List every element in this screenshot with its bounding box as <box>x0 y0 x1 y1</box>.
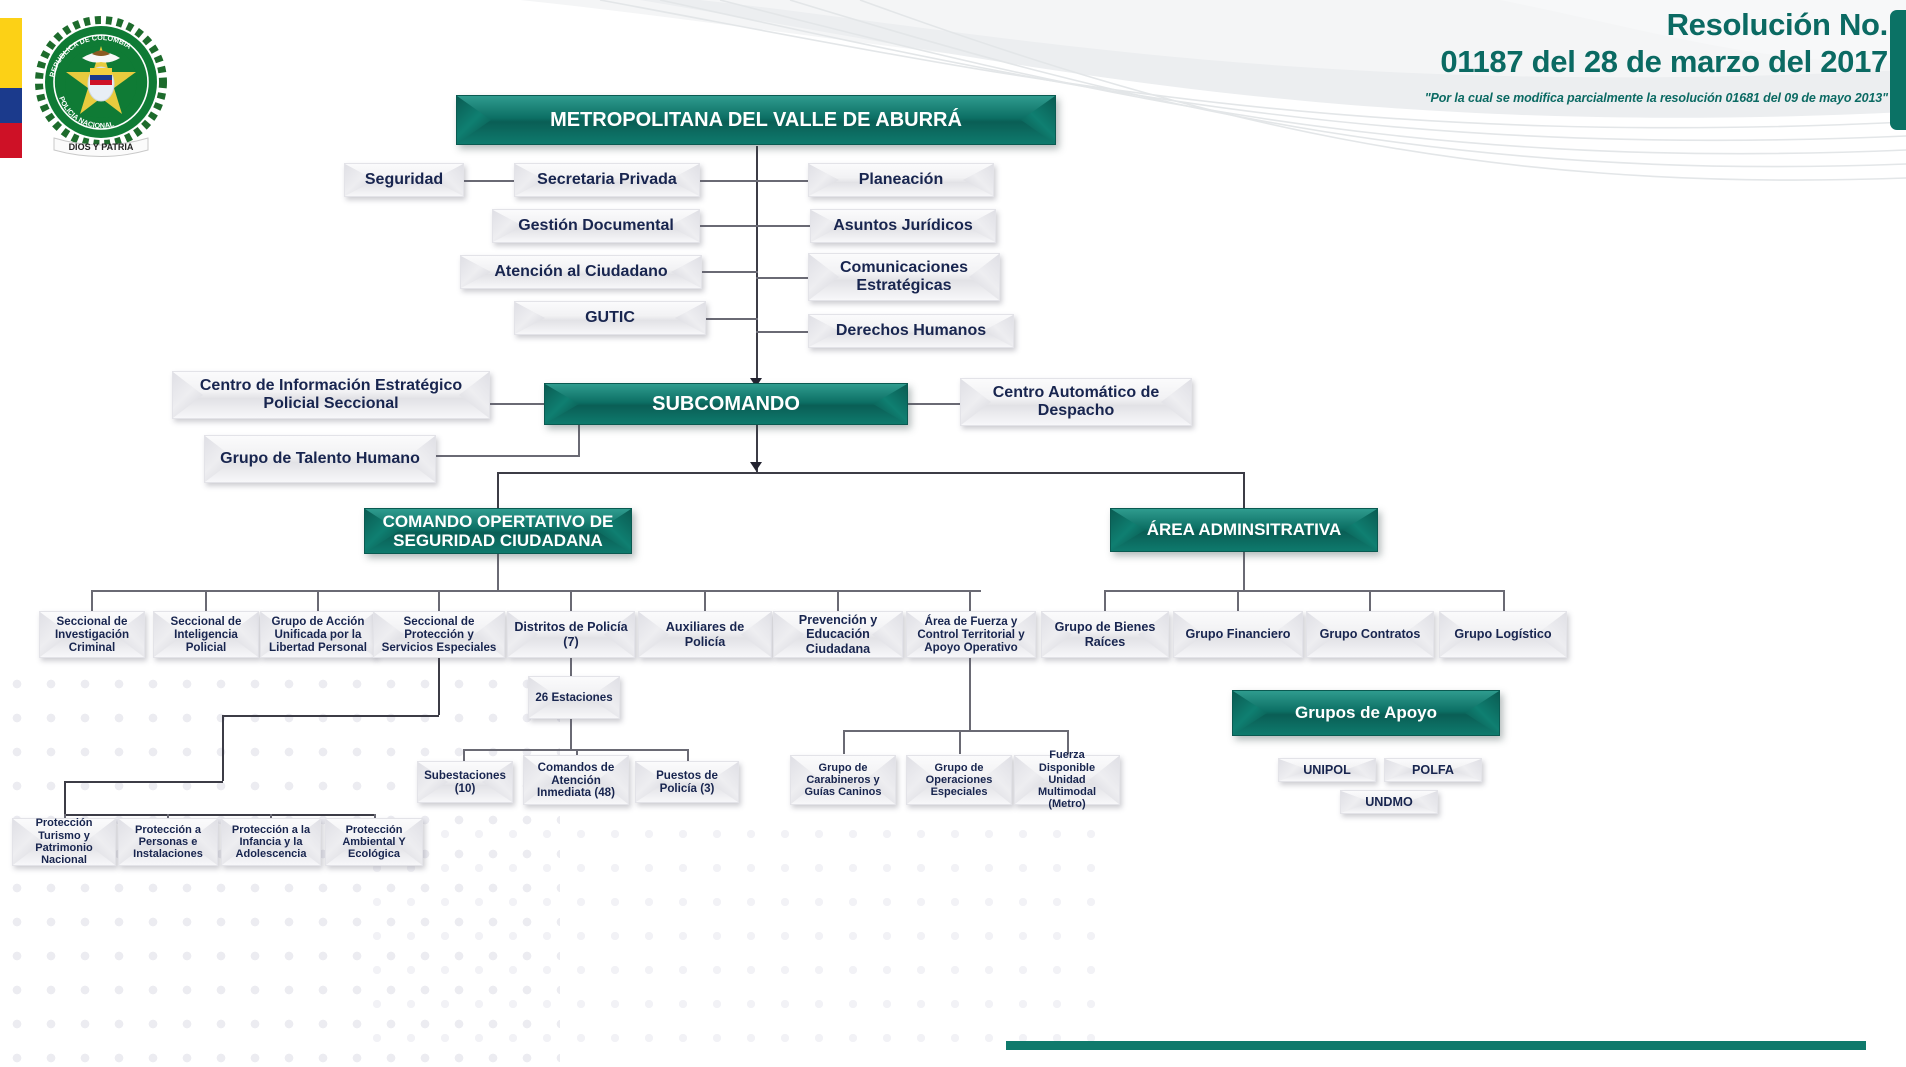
node-seccional-proteccion-servicios-especiales[interactable]: Seccional de Protección y Servicios Espe… <box>373 611 505 658</box>
node-proteccion-personas-instalaciones[interactable]: Protección a Personas e Instalaciones <box>118 818 218 866</box>
connector-fz-1 <box>843 730 845 754</box>
resolution-title-line1: Resolución No. <box>1168 6 1888 43</box>
connector-estaciones-down <box>570 718 572 749</box>
node-metropolitana-valle-aburra[interactable]: METROPOLITANA DEL VALLE DE ABURRÁ <box>456 95 1056 145</box>
policia-nacional-colombia-emblem: REPUBLICA DE COLOMBIA POLICIA NACIONAL D… <box>30 10 172 170</box>
connector-ad-2 <box>1237 590 1239 613</box>
node-seguridad[interactable]: Seguridad <box>344 163 464 197</box>
node-undmo[interactable]: UNDMO <box>1340 790 1438 814</box>
node-proteccion-turismo-patrimonio[interactable]: Protección Turismo y Patrimonio Nacional <box>12 818 116 866</box>
node-grupo-logistico[interactable]: Grupo Logístico <box>1439 611 1567 658</box>
node-grupo-contratos[interactable]: Grupo Contratos <box>1306 611 1434 658</box>
node-auxiliares-de-policia[interactable]: Auxiliares de Policía <box>638 611 772 658</box>
node-puestos-de-policia[interactable]: Puestos de Policía (3) <box>635 761 739 803</box>
connector-op-2 <box>205 590 207 613</box>
slide-header: Resolución No. 01187 del 28 de marzo del… <box>1168 6 1888 105</box>
node-proteccion-infancia-adolescencia[interactable]: Protección a la Infancia y la Adolescenc… <box>221 818 321 866</box>
connector-ad-3 <box>1369 590 1371 613</box>
resolution-subtitle: "Por la cual se modifica parcialmente la… <box>1168 91 1888 105</box>
node-seccional-inteligencia-policial[interactable]: Seccional de Inteligencia Policial <box>153 611 259 658</box>
background-dot-pattern <box>0 667 560 1067</box>
node-atencion-al-ciudadano[interactable]: Atención al Ciudadano <box>460 255 702 289</box>
connector-talento-v <box>578 423 580 456</box>
connector-ddhh <box>756 331 808 333</box>
connector-ciep <box>490 403 544 405</box>
connector-ad-4 <box>1503 590 1505 613</box>
connector-proteccion-h1 <box>222 715 439 717</box>
connector-planeacion <box>756 180 808 182</box>
node-area-administrativa[interactable]: ÁREA ADMINSITRATIVA <box>1110 508 1378 552</box>
background-dot-pattern-secondary <box>360 817 1120 1067</box>
connector-juridicos <box>756 225 812 227</box>
node-centro-informacion-estrategico[interactable]: Centro de Información Estratégico Polici… <box>172 371 490 419</box>
connector-atencion <box>702 271 758 273</box>
connector-cad <box>908 403 962 405</box>
connector-gutic <box>706 318 758 320</box>
connector-talento-h <box>436 455 580 457</box>
node-grupo-operaciones-especiales[interactable]: Grupo de Operaciones Especiales <box>906 755 1012 805</box>
connector-op-8 <box>969 590 971 613</box>
node-area-fuerza-control-territorial-apoyo-operativo[interactable]: Área de Fuerza y Control Territorial y A… <box>906 611 1036 658</box>
connector-fz-2 <box>959 730 961 754</box>
node-subestaciones[interactable]: Subestaciones (10) <box>417 761 513 803</box>
node-centro-automatico-despacho[interactable]: Centro Automático de Despacho <box>960 378 1192 426</box>
connector-arrow-divisions <box>750 462 762 471</box>
node-unipol[interactable]: UNIPOL <box>1278 758 1376 782</box>
connector-proteccion-bus <box>64 814 374 816</box>
right-edge-tab <box>1890 10 1906 130</box>
node-gestion-documental[interactable]: Gestión Documental <box>492 209 700 243</box>
node-grupo-carabineros-guias-caninos[interactable]: Grupo de Carabineros y Guías Caninos <box>790 755 896 805</box>
node-grupos-de-apoyo[interactable]: Grupos de Apoyo <box>1232 690 1500 736</box>
connector-distritos-estaciones <box>570 658 572 678</box>
node-fuerza-disponible-unidad-multimodal[interactable]: Fuerza Disponible Unidad Multimodal (Met… <box>1014 755 1120 805</box>
connector-op-5 <box>570 590 572 613</box>
connector-admin-bus <box>1104 590 1504 592</box>
connector-op-4 <box>438 590 440 613</box>
connector-fuerza-bus <box>843 730 1067 732</box>
svg-text:DIOS Y PATRIA: DIOS Y PATRIA <box>69 142 134 152</box>
connector-to-operative <box>497 472 499 510</box>
node-asuntos-juridicos[interactable]: Asuntos Jurídicos <box>810 209 996 243</box>
connector-to-admin <box>1243 472 1245 510</box>
node-grupo-bienes-raices[interactable]: Grupo de Bienes Raíces <box>1041 611 1169 658</box>
connector-proteccion-drop <box>64 781 66 814</box>
connector-op-7 <box>837 590 839 613</box>
connector-ad-1 <box>1104 590 1106 613</box>
node-grupo-financiero[interactable]: Grupo Financiero <box>1173 611 1303 658</box>
node-polfa[interactable]: POLFA <box>1384 758 1482 782</box>
node-grupo-talento-humano[interactable]: Grupo de Talento Humano <box>204 435 436 483</box>
organigrama-slide: REPUBLICA DE COLOMBIA POLICIA NACIONAL D… <box>0 0 1906 1067</box>
connector-estaciones-bus <box>463 749 687 751</box>
node-planeacion[interactable]: Planeación <box>808 163 994 197</box>
connector-admin-down <box>1243 552 1245 590</box>
connector-divisions-bus <box>497 472 1244 474</box>
node-comando-operativo-seguridad-ciudadana[interactable]: COMANDO OPERTATIVO DE SEGURIDAD CIUDADAN… <box>364 508 632 554</box>
bottom-accent-bar <box>1006 1041 1866 1050</box>
node-seccional-investigacion-criminal[interactable]: Seccional de Investigación Criminal <box>39 611 145 658</box>
connector-proteccion-v <box>222 715 224 781</box>
connector-root-spine <box>756 146 758 390</box>
node-comunicaciones-estrategicas[interactable]: Comunicaciones Estratégicas <box>808 253 1000 301</box>
connector-proteccion-h2 <box>64 781 223 783</box>
connector-fuerza-down <box>969 658 971 730</box>
colombia-flag-bar <box>0 18 22 158</box>
connector-comunicaciones <box>756 277 808 279</box>
node-derechos-humanos[interactable]: Derechos Humanos <box>808 314 1014 348</box>
connector-op-1 <box>91 590 93 613</box>
node-secretaria-privada[interactable]: Secretaria Privada <box>514 163 700 197</box>
node-gutic[interactable]: GUTIC <box>514 301 706 335</box>
node-prevencion-educacion-ciudadana[interactable]: Prevención y Educación Ciudadana <box>773 611 903 658</box>
connector-op-3 <box>317 590 319 613</box>
node-subcomando[interactable]: SUBCOMANDO <box>544 383 908 425</box>
node-proteccion-ambiental-ecologica[interactable]: Protección Ambiental Y Ecológica <box>325 818 423 866</box>
resolution-title-line2: 01187 del 28 de marzo del 2017 <box>1168 43 1888 80</box>
connector-proteccion-down <box>438 658 440 715</box>
connector-operative-bus <box>91 590 981 592</box>
node-grupo-accion-unificada-libertad-personal[interactable]: Grupo de Acción Unificada por la Liberta… <box>260 611 376 658</box>
connector-op-6 <box>704 590 706 613</box>
connector-secretaria <box>700 180 758 182</box>
connector-operative-down <box>497 552 499 590</box>
node-distritos-de-policia[interactable]: Distritos de Policía (7) <box>507 611 635 658</box>
node-comandos-atencion-inmediata[interactable]: Comandos de Atención Inmediata (48) <box>523 755 629 805</box>
connector-gestion <box>696 225 758 227</box>
node-26-estaciones[interactable]: 26 Estaciones <box>528 676 620 719</box>
